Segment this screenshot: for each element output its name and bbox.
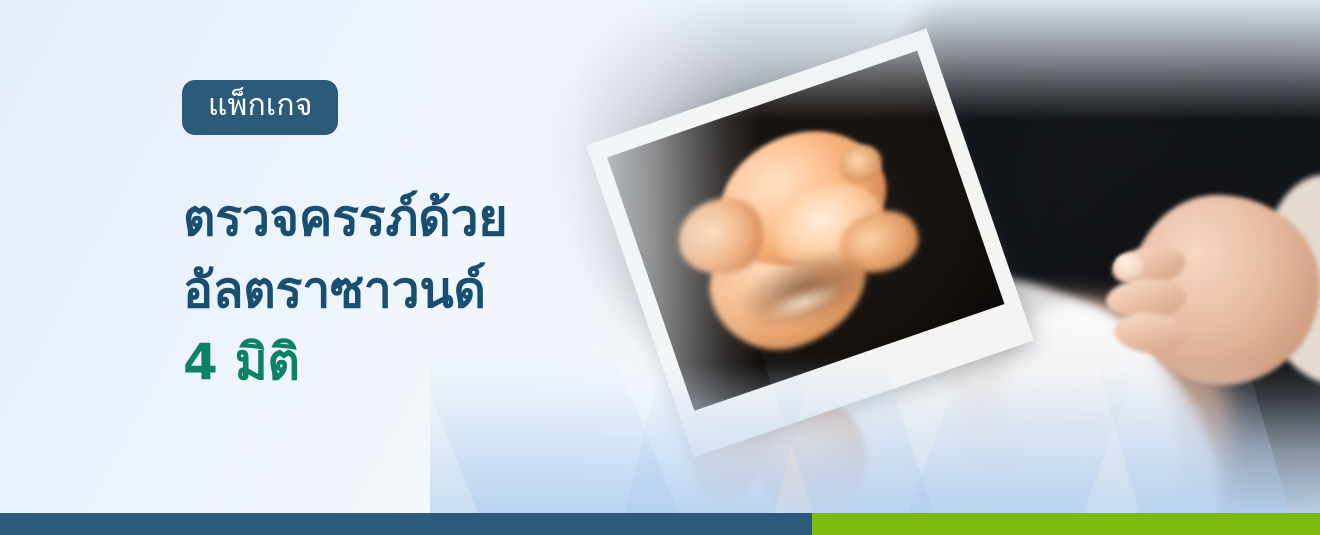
headline-line-2: อัลตราซาวนด์	[183, 254, 507, 326]
bottom-bar-blue-segment	[0, 513, 812, 535]
ray-4	[901, 373, 1134, 513]
bottom-bar-green-segment	[812, 513, 1320, 535]
headline-line-3: 4 มิติ	[183, 326, 507, 398]
ray-5	[1094, 355, 1295, 513]
bottom-bar	[0, 513, 1320, 535]
package-badge: แพ็กเกจ	[182, 80, 338, 135]
headline-line-1: ตรวจครรภ์ด้วย	[183, 182, 507, 254]
promo-banner: แพ็กเกจ ตรวจครรภ์ด้วย อัลตราซาวนด์ 4 มิต…	[0, 0, 1320, 535]
right-fingernail	[1114, 253, 1144, 279]
ray-3	[760, 348, 940, 513]
page-title: ตรวจครรภ์ด้วย อัลตราซาวนด์ 4 มิติ	[183, 182, 507, 398]
text-content: แพ็กเกจ ตรวจครรภ์ด้วย อัลตราซาวนด์ 4 มิต…	[0, 0, 640, 513]
